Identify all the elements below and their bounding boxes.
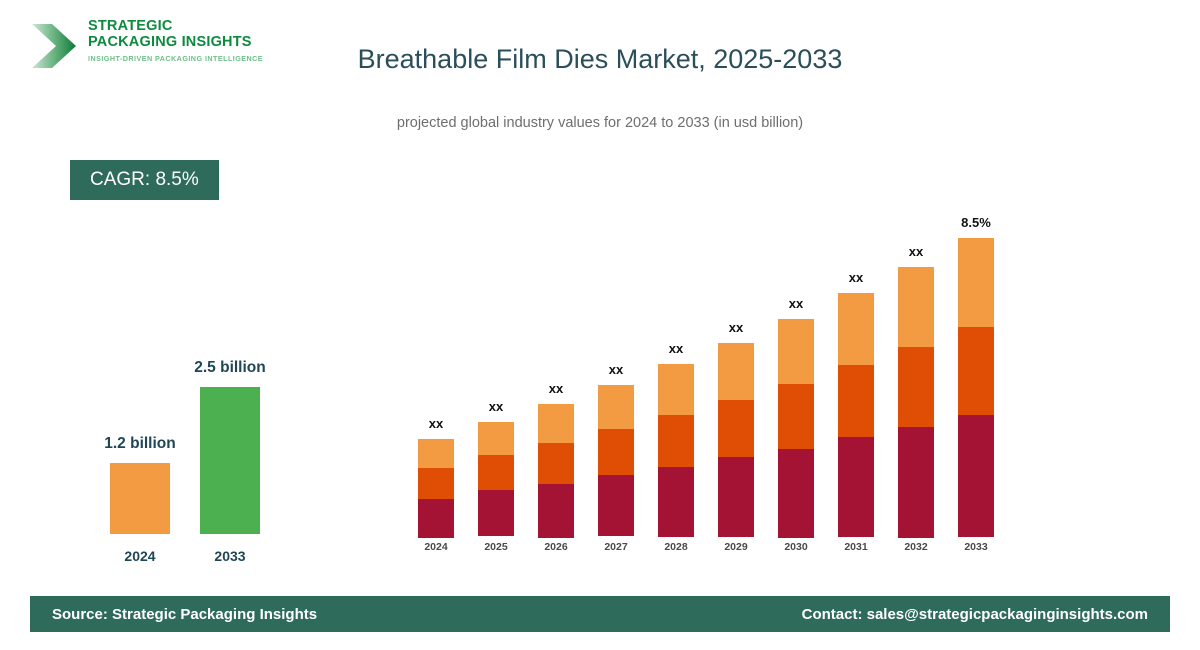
stacked-bar [718, 343, 754, 537]
stacked-bar-segment [958, 415, 994, 537]
stacked-bar-segment [658, 467, 694, 537]
stacked-bar [598, 385, 634, 537]
stacked-bar [778, 319, 814, 537]
stacked-bar [478, 422, 514, 537]
stacked-bar-segment [898, 427, 934, 538]
stacked-bar [838, 293, 874, 537]
stacked-bar [538, 404, 574, 537]
stacked-bar-segment [658, 364, 694, 415]
stacked-bar-label: xx [511, 381, 601, 396]
stacked-bar-label: xx [391, 416, 481, 431]
stacked-forecast-chart: xx2024xx2025xx2026xx2027xx2028xx2029xx20… [0, 0, 1200, 650]
stacked-bar-segment [778, 319, 814, 384]
stacked-bar-segment [838, 293, 874, 365]
stacked-bar-segment [538, 443, 574, 484]
stacked-bar-segment [778, 449, 814, 538]
stacked-bar-segment [478, 455, 514, 490]
stacked-bar-segment [658, 415, 694, 467]
stacked-bar-label: xx [871, 244, 961, 259]
chart-canvas: STRATEGIC PACKAGING INSIGHTS INSIGHT-DRI… [0, 0, 1200, 650]
stacked-bar-label: xx [451, 399, 541, 414]
stacked-bar [418, 439, 454, 537]
stacked-bar [958, 238, 994, 537]
stacked-bar-segment [538, 404, 574, 443]
stacked-bar-label: xx [631, 341, 721, 356]
stacked-bar-segment [418, 499, 454, 538]
stacked-bar-year: 2033 [931, 541, 1021, 553]
stacked-bar-label: xx [811, 270, 901, 285]
stacked-bar-segment [838, 365, 874, 437]
stacked-bar-segment [718, 457, 754, 537]
stacked-bar-segment [478, 422, 514, 455]
stacked-bar-segment [598, 385, 634, 429]
stacked-bar-segment [538, 484, 574, 538]
stacked-bar-segment [898, 347, 934, 427]
stacked-bar [898, 267, 934, 537]
stacked-bar-segment [778, 384, 814, 449]
stacked-bar-segment [958, 238, 994, 327]
stacked-bar-label: xx [751, 296, 841, 311]
stacked-bar-segment [898, 267, 934, 347]
footer-contact: Contact: sales@strategicpackaginginsight… [802, 606, 1148, 623]
stacked-bar-segment [418, 468, 454, 499]
stacked-bar-segment [598, 429, 634, 475]
stacked-bar-segment [718, 343, 754, 400]
stacked-bar-segment [598, 475, 634, 536]
stacked-bar [658, 364, 694, 537]
stacked-bar-segment [478, 490, 514, 536]
stacked-bar-segment [718, 400, 754, 457]
stacked-bar-segment [838, 437, 874, 537]
stacked-bar-segment [958, 327, 994, 415]
stacked-bar-segment [418, 439, 454, 468]
stacked-bar-label: xx [691, 320, 781, 335]
footer-bar: Source: Strategic Packaging Insights Con… [30, 596, 1170, 632]
stacked-bar-label: xx [571, 362, 661, 377]
footer-source: Source: Strategic Packaging Insights [52, 606, 317, 623]
stacked-bar-label: 8.5% [931, 215, 1021, 230]
